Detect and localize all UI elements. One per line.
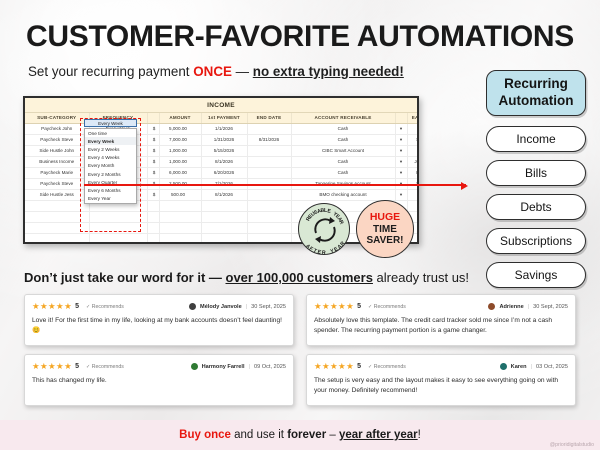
cell-blank — [25, 200, 89, 211]
reviews-heading-after: already trust us! — [373, 270, 469, 285]
cell-amount: 500.00 — [159, 189, 201, 200]
cell-amount: 6,000.00 — [159, 167, 201, 178]
cell-currency: $ — [147, 134, 159, 145]
pill-recurring-line1: Recurring — [504, 76, 568, 93]
pill-recurring-line2: Automation — [499, 93, 574, 110]
cell-blank — [247, 200, 291, 211]
review-author-group: Adrienne|30 Sept, 2025 — [488, 303, 568, 310]
cell-account-receivable: Cash — [291, 123, 395, 134]
review-author-group: Mélody Janvole|30 Sept, 2025 — [189, 303, 286, 310]
col-amount: AMOUNT — [159, 113, 201, 123]
review-body-text: Absolutely love this template. The credi… — [314, 316, 568, 335]
cell-sub-category: Paycheck Steve — [25, 134, 89, 145]
cell-end-date: 8/31/2026 — [247, 134, 291, 145]
footer-underlined: year after year — [339, 429, 418, 441]
cell-blank — [247, 211, 291, 222]
cell-first-payment: 8/1/2026 — [201, 189, 247, 200]
subheadline: Set your recurring payment ONCE — no ext… — [28, 64, 404, 79]
star-rating-icon: ★★★★★ — [314, 361, 354, 372]
review-header: ★★★★★5✓ RecommendsAdrienne|30 Sept, 2025 — [314, 301, 568, 312]
reusable-badge: REUSABLE YEAR AFTER YEAR — [298, 203, 350, 255]
review-header: ★★★★★5✓ RecommendsKaren|03 Oct, 2025 — [314, 361, 568, 372]
review-date: 03 Oct, 2025 — [536, 364, 568, 370]
cell-blank — [147, 222, 159, 233]
star-rating-icon: ★★★★★ — [32, 301, 72, 312]
review-rating-value: 5 — [75, 303, 79, 310]
subhead-emphasis: ONCE — [193, 64, 232, 79]
col-end-date: END DATE — [247, 113, 291, 123]
cell-blank — [147, 233, 159, 244]
dropdown-option[interactable]: Every 2 Months — [85, 170, 136, 178]
avatar — [191, 363, 198, 370]
subhead-underlined: no extra typing needed! — [253, 64, 404, 79]
cell-sub-category: Side Hustle John — [25, 145, 89, 156]
cell-blank — [89, 222, 147, 233]
cell-sub-category: Business Income — [25, 156, 89, 167]
cell-blank — [201, 222, 247, 233]
star-rating-icon: ★★★★★ — [314, 301, 354, 312]
cell-account-caret-icon[interactable]: ▾ — [395, 134, 407, 145]
watermark: @prioridigitalstudio — [550, 442, 594, 448]
cell-currency: $ — [147, 189, 159, 200]
cell-blank — [159, 233, 201, 244]
footer-banner: Buy once and use it forever – year after… — [0, 420, 600, 450]
cell-account-receivable: CIBC Smart Account — [291, 145, 395, 156]
time-saver-line2: TIME — [373, 224, 397, 235]
cell-sub-category: Paycheck John — [25, 123, 89, 134]
review-rating-value: 5 — [75, 363, 79, 370]
cell-first-payment: 5/15/2026 — [201, 145, 247, 156]
cell-account-caret-icon[interactable]: ▾ — [395, 189, 407, 200]
pill-subscriptions[interactable]: Subscriptions — [486, 228, 586, 254]
cell-account-caret-icon[interactable]: ▾ — [395, 156, 407, 167]
time-saver-line1: HUGE — [370, 212, 400, 224]
avatar — [189, 303, 196, 310]
cell-sub-category: Side Hustle Jess — [25, 189, 89, 200]
cell-sub-category: Paycheck Steve — [25, 178, 89, 189]
review-author-name: Mélody Janvole — [200, 304, 242, 310]
reviews-heading-underlined: over 100,000 customers — [226, 270, 373, 285]
cell-amount: 1,000.00 — [159, 156, 201, 167]
footer-forever: forever — [287, 429, 326, 441]
cell-first-payment: 8/1/2026 — [201, 156, 247, 167]
cell-first-payment: 1/1/2026 — [201, 123, 247, 134]
review-rating-group: ★★★★★5✓ Recommends — [314, 301, 406, 312]
cell-earner: John — [407, 123, 419, 134]
col-account-receivable: ACCOUNT RECEIVABLE — [291, 113, 395, 123]
col-account-caret — [395, 113, 407, 123]
footer-buy: Buy once — [179, 429, 231, 441]
cell-blank — [89, 211, 147, 222]
cell-blank — [25, 211, 89, 222]
dropdown-option[interactable]: Every Year — [85, 195, 136, 203]
cell-end-date — [247, 156, 291, 167]
pill-income[interactable]: Income — [486, 126, 586, 152]
page-title: CUSTOMER-FAVORITE AUTOMATIONS — [0, 20, 600, 54]
cell-account-receivable: BMO checking account — [291, 189, 395, 200]
col-currency — [147, 113, 159, 123]
review-recommends-label: ✓ Recommends — [86, 364, 124, 370]
subhead-before: Set your recurring payment — [28, 64, 193, 79]
frequency-dropdown-list[interactable]: One timeEvery WeekEvery 2 WeeksEvery 4 W… — [84, 128, 137, 204]
cell-amount: 7,000.00 — [159, 134, 201, 145]
cell-blank — [201, 233, 247, 244]
col-earner: EARNER — [407, 113, 419, 123]
footer-mid: and use it — [231, 429, 287, 441]
frequency-cell-selected[interactable]: Every Week — [84, 119, 137, 127]
automation-pill-list: Recurring Automation Income Bills Debts … — [486, 70, 586, 296]
review-separator: | — [528, 304, 529, 310]
spreadsheet-section-title: INCOME — [25, 98, 417, 113]
col-sub-category: SUB-CATEGORY — [25, 113, 89, 123]
review-recommends-label: ✓ Recommends — [368, 364, 406, 370]
star-rating-icon: ★★★★★ — [32, 361, 72, 372]
pill-debts[interactable]: Debts — [486, 194, 586, 220]
cell-blank — [159, 211, 201, 222]
review-body-text: Love it! For the first time in my life, … — [32, 316, 286, 335]
recycle-arrows-icon — [310, 215, 340, 245]
cell-first-payment: 1/31/2026 — [201, 134, 247, 145]
reviews-heading-before: Don’t just take our word for it — — [24, 270, 226, 285]
cell-earner: Jerome — [407, 156, 419, 167]
footer-bang: ! — [418, 429, 421, 441]
review-rating-group: ★★★★★5✓ Recommends — [32, 361, 124, 372]
dropdown-option[interactable]: One time — [85, 129, 136, 137]
cell-blank — [89, 233, 147, 244]
review-author-name: Adrienne — [499, 304, 523, 310]
review-separator: | — [249, 364, 250, 370]
cell-blank — [25, 233, 89, 244]
review-recommends-label: ✓ Recommends — [86, 304, 124, 310]
review-card: ★★★★★5✓ RecommendsAdrienne|30 Sept, 2025… — [306, 294, 576, 346]
review-author-group: Harmony Farrell|09 Oct, 2025 — [191, 363, 286, 370]
cell-amount: 1,000.00 — [159, 145, 201, 156]
review-body-text: This has changed my life. — [32, 376, 286, 386]
red-arrow-annotation — [84, 184, 466, 186]
cell-blank — [159, 222, 201, 233]
cell-blank — [25, 222, 89, 233]
review-author-group: Karen|03 Oct, 2025 — [500, 363, 568, 370]
cell-amount: 5,000.00 — [159, 123, 201, 134]
review-separator: | — [246, 304, 247, 310]
pill-savings[interactable]: Savings — [486, 262, 586, 288]
cell-currency: $ — [147, 145, 159, 156]
dropdown-option[interactable]: Every 4 Weeks — [85, 154, 136, 162]
review-recommends-label: ✓ Recommends — [368, 304, 406, 310]
cell-end-date — [247, 189, 291, 200]
cell-blank — [247, 233, 291, 244]
review-card: ★★★★★5✓ RecommendsMélody Janvole|30 Sept… — [24, 294, 294, 346]
review-separator: | — [531, 364, 532, 370]
cell-earner: John — [407, 145, 419, 156]
review-rating-group: ★★★★★5✓ Recommends — [314, 361, 406, 372]
dropdown-option[interactable]: Every 2 Weeks — [85, 145, 136, 153]
dropdown-option[interactable]: Every 6 Months — [85, 186, 136, 194]
cell-currency: $ — [147, 156, 159, 167]
cell-end-date — [247, 145, 291, 156]
cell-account-receivable: Cash — [291, 167, 395, 178]
review-rating-value: 5 — [357, 303, 361, 310]
cell-blank — [247, 222, 291, 233]
cell-first-payment: 6/20/2026 — [201, 167, 247, 178]
dropdown-option[interactable]: Every Week — [85, 137, 136, 145]
subhead-dash: — — [232, 64, 253, 79]
review-author-name: Harmony Farrell — [202, 364, 245, 370]
reviews-heading: Don’t just take our word for it — over 1… — [24, 270, 469, 285]
review-date: 30 Sept, 2025 — [533, 304, 568, 310]
review-body-text: The setup is very easy and the layout ma… — [314, 376, 568, 395]
cell-end-date — [247, 123, 291, 134]
cell-blank — [147, 211, 159, 222]
cell-blank — [407, 200, 419, 211]
dropdown-option[interactable]: Every Month — [85, 162, 136, 170]
avatar — [500, 363, 507, 370]
cell-earner: Steve — [407, 134, 419, 145]
col-first-payment: 1st PAYMENT — [201, 113, 247, 123]
review-author-name: Karen — [511, 364, 527, 370]
review-card: ★★★★★5✓ RecommendsHarmony Farrell|09 Oct… — [24, 354, 294, 406]
time-saver-line3: SAVER! — [366, 235, 403, 246]
reviews-grid: ★★★★★5✓ RecommendsMélody Janvole|30 Sept… — [24, 294, 576, 406]
cell-blank — [201, 200, 247, 211]
cell-blank — [147, 200, 159, 211]
review-header: ★★★★★5✓ RecommendsHarmony Farrell|09 Oct… — [32, 361, 286, 372]
pill-recurring-automation[interactable]: Recurring Automation — [486, 70, 586, 116]
pill-bills[interactable]: Bills — [486, 160, 586, 186]
avatar — [488, 303, 495, 310]
cell-account-caret-icon[interactable]: ▾ — [395, 123, 407, 134]
cell-earner: Tony — [407, 189, 419, 200]
cell-account-caret-icon[interactable]: ▾ — [395, 167, 407, 178]
cell-sub-category: Paycheck Marie — [25, 167, 89, 178]
cell-end-date — [247, 167, 291, 178]
review-date: 09 Oct, 2025 — [254, 364, 286, 370]
review-rating-group: ★★★★★5✓ Recommends — [32, 301, 124, 312]
cell-earner: Marie — [407, 167, 419, 178]
review-card: ★★★★★5✓ RecommendsKaren|03 Oct, 2025The … — [306, 354, 576, 406]
time-saver-badge: HUGE TIME SAVER! — [356, 200, 414, 258]
cell-account-receivable: Cash — [291, 134, 395, 145]
cell-blank — [201, 211, 247, 222]
arc-char: R — [322, 250, 326, 256]
review-header: ★★★★★5✓ RecommendsMélody Janvole|30 Sept… — [32, 301, 286, 312]
footer-dash: – — [326, 429, 339, 441]
cell-account-caret-icon[interactable]: ▾ — [395, 145, 407, 156]
footer-text: Buy once and use it forever – year after… — [179, 429, 421, 441]
review-rating-value: 5 — [357, 363, 361, 370]
cell-currency: $ — [147, 123, 159, 134]
cell-account-receivable: Cash — [291, 156, 395, 167]
cell-blank — [159, 200, 201, 211]
review-date: 30 Sept, 2025 — [251, 304, 286, 310]
cell-currency: $ — [147, 167, 159, 178]
